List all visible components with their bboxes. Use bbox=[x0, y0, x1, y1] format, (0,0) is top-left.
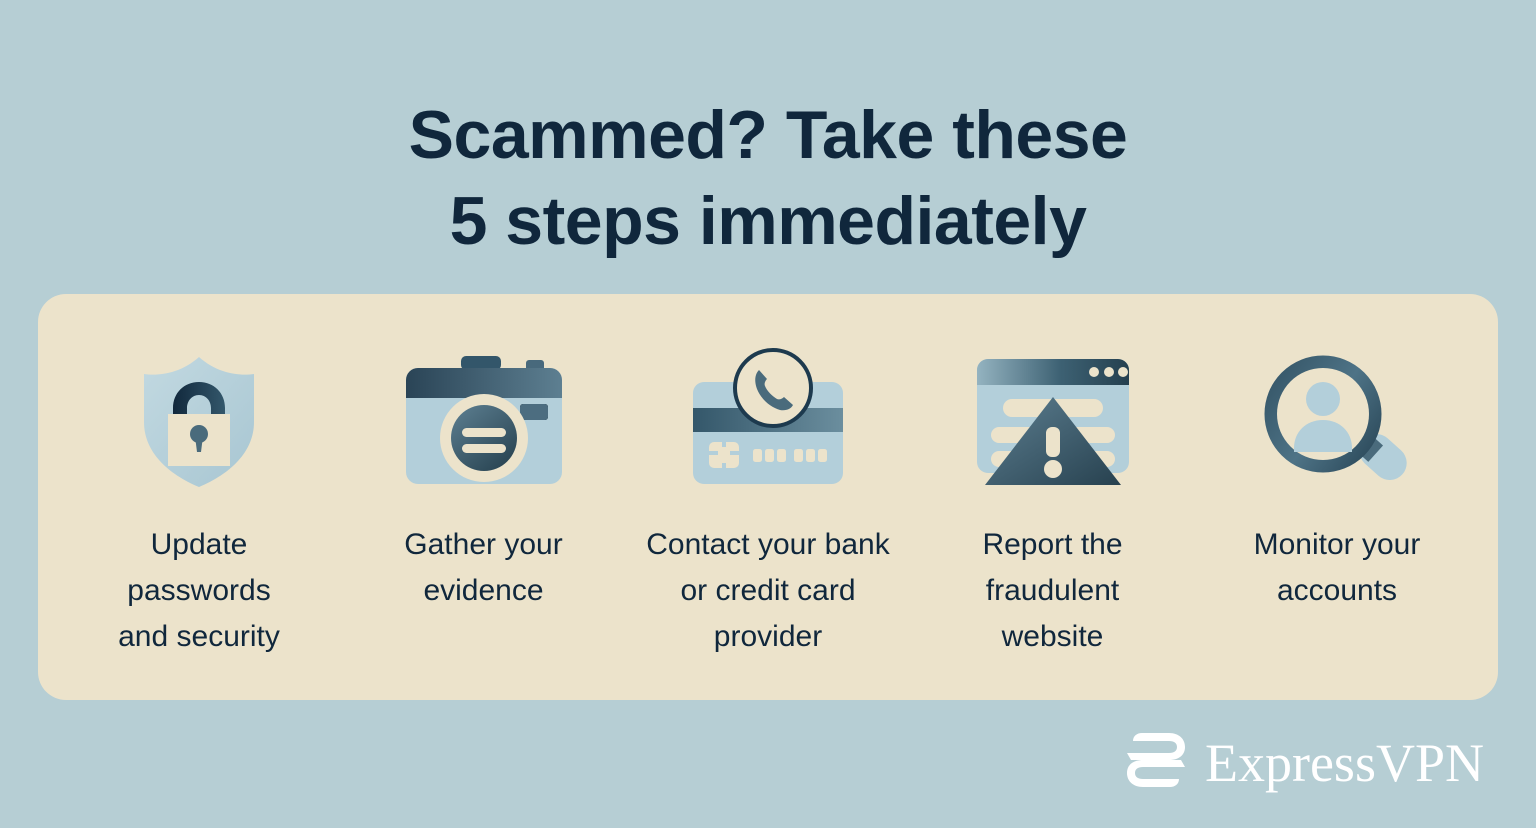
shield-lock-icon bbox=[114, 346, 284, 496]
page-title: Scammed? Take these 5 steps immediately bbox=[0, 92, 1536, 264]
title-line-2: 5 steps immediately bbox=[0, 178, 1536, 264]
browser-warning-icon bbox=[968, 346, 1138, 496]
camera-icon bbox=[399, 346, 569, 496]
step-item-monitor-accounts: Monitor your accounts bbox=[1198, 294, 1476, 614]
step-label: Report the fraudulent website bbox=[982, 522, 1122, 660]
magnifier-person-icon bbox=[1252, 346, 1422, 496]
expressvpn-wordmark: ExpressVPN bbox=[1205, 736, 1484, 790]
credit-card-phone-icon bbox=[683, 346, 853, 496]
step-item-update-passwords: Update passwords and security bbox=[60, 294, 338, 660]
steps-row: Update passwords and security bbox=[38, 294, 1498, 700]
step-label: Monitor your accounts bbox=[1254, 522, 1421, 614]
step-item-report-website: Report the fraudulent website bbox=[914, 294, 1192, 660]
step-item-contact-bank: Contact your bank or credit card provide… bbox=[629, 294, 907, 660]
expressvpn-logo: ExpressVPN bbox=[1123, 727, 1484, 798]
step-label: Contact your bank or credit card provide… bbox=[646, 522, 889, 660]
steps-card: Update passwords and security bbox=[38, 294, 1498, 700]
title-line-1: Scammed? Take these bbox=[0, 92, 1536, 178]
expressvpn-e-mark-icon bbox=[1123, 727, 1189, 798]
step-item-gather-evidence: Gather your evidence bbox=[345, 294, 623, 614]
step-label: Gather your evidence bbox=[404, 522, 562, 614]
step-label: Update passwords and security bbox=[118, 522, 280, 660]
